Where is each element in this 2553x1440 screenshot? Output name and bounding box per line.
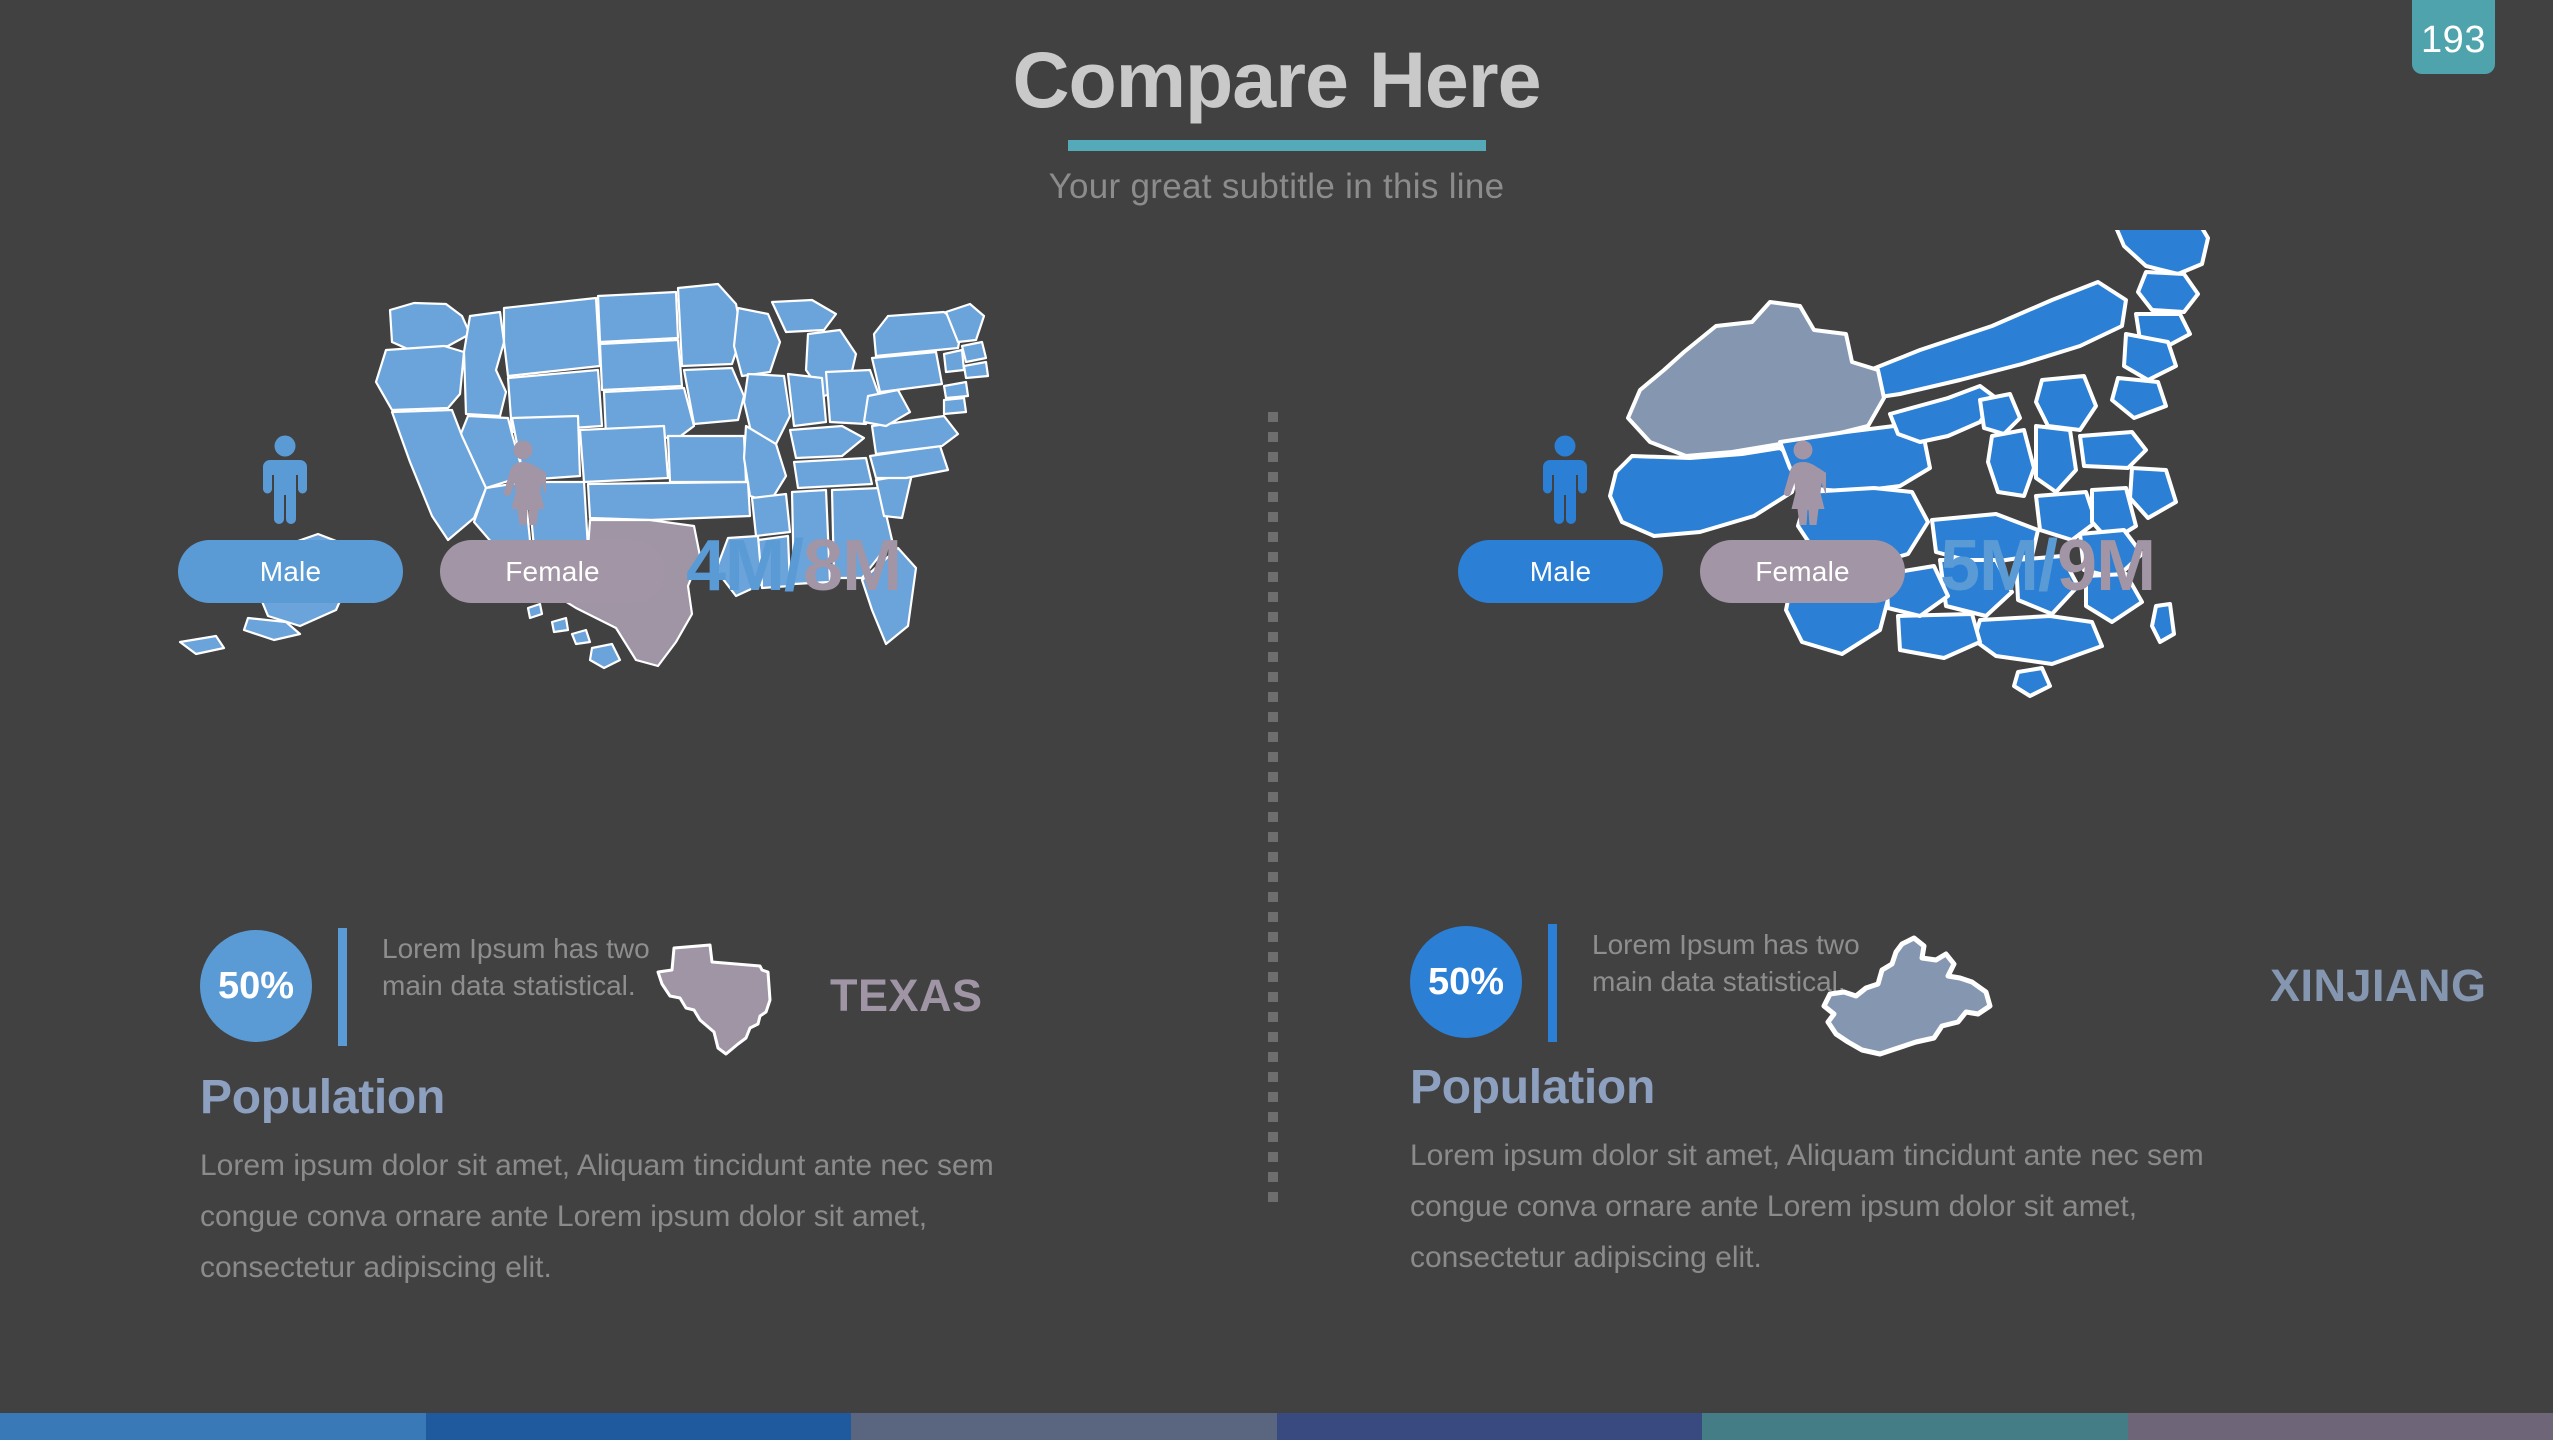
strip-segment-6 xyxy=(2128,1413,2553,1440)
united-states-map[interactable] xyxy=(0,230,1250,700)
percent-circle-usa: 50% xyxy=(200,930,312,1042)
male-pill-china[interactable]: Male xyxy=(1458,540,1663,603)
gender-ratio-usa: 4M/8M xyxy=(686,525,901,607)
percent-label: 50% xyxy=(218,965,294,1008)
stat-description-usa: Lorem Ipsum has two main data statistica… xyxy=(382,930,682,1004)
ratio-female-part: 9M xyxy=(2057,526,2155,606)
male-pill-usa[interactable]: Male xyxy=(178,540,403,603)
panel-divider xyxy=(1268,412,1278,1208)
female-pill-usa[interactable]: Female xyxy=(440,540,665,603)
population-body-usa: Lorem ipsum dolor sit amet, Aliquam tinc… xyxy=(200,1140,1030,1293)
female-pill-china[interactable]: Female xyxy=(1700,540,1905,603)
stat-accent-bar-china xyxy=(1548,924,1557,1042)
ratio-male-part: 4M/ xyxy=(686,526,803,606)
region-label-china: XINJIANG xyxy=(2270,960,2487,1012)
slide-header: Compare Here Your great subtitle in this… xyxy=(0,0,2553,207)
strip-segment-4 xyxy=(1277,1413,1703,1440)
strip-segment-2 xyxy=(426,1413,852,1440)
population-heading-china: Population xyxy=(1410,1060,1655,1115)
male-person-icon xyxy=(1542,435,1588,530)
female-person-icon xyxy=(500,440,546,530)
strip-segment-3 xyxy=(851,1413,1277,1440)
title-underline-accent xyxy=(1068,140,1486,151)
strip-segment-5 xyxy=(1702,1413,2128,1440)
bottom-color-strip xyxy=(0,1413,2553,1440)
percent-label: 50% xyxy=(1428,961,1504,1004)
region-label-usa: TEXAS xyxy=(830,970,983,1022)
strip-segment-1 xyxy=(0,1413,426,1440)
population-body-china: Lorem ipsum dolor sit amet, Aliquam tinc… xyxy=(1410,1130,2240,1283)
gender-ratio-china: 5M/9M xyxy=(1940,525,2155,607)
texas-shape-icon xyxy=(650,920,800,1065)
male-pill-label: Male xyxy=(260,556,322,588)
china-map[interactable] xyxy=(1280,230,2530,700)
female-pill-label: Female xyxy=(505,556,600,588)
xinjiang-shape-icon xyxy=(1810,930,2010,1075)
female-pill-label: Female xyxy=(1755,556,1850,588)
stat-accent-bar-usa xyxy=(338,928,347,1046)
comparison-panel-usa: Male Female 4M/8M 50% Lorem Ipsum has tw… xyxy=(0,230,1250,1360)
comparison-panel-china: Male Female 5M/9M 50% Lorem Ipsum has tw… xyxy=(1280,230,2530,1360)
female-person-icon xyxy=(1780,440,1826,530)
population-heading-usa: Population xyxy=(200,1070,445,1125)
percent-circle-china: 50% xyxy=(1410,926,1522,1038)
ratio-male-part: 5M/ xyxy=(1940,526,2057,606)
page-subtitle: Your great subtitle in this line xyxy=(0,167,2553,207)
male-person-icon xyxy=(262,435,308,530)
ratio-female-part: 8M xyxy=(803,526,901,606)
male-pill-label: Male xyxy=(1530,556,1592,588)
page-title: Compare Here xyxy=(0,40,2553,119)
